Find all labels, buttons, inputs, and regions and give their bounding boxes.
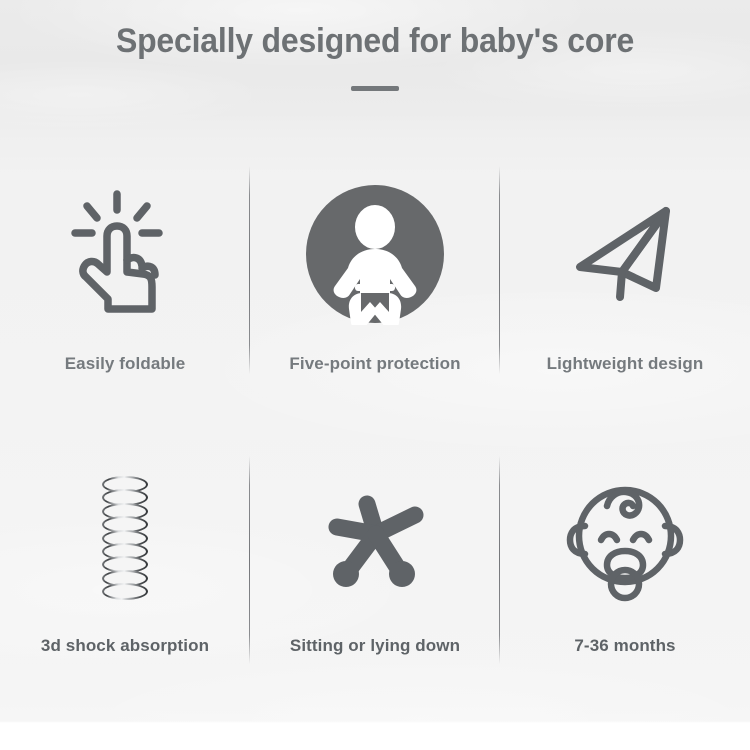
feature-item-five-point-protection[interactable]: Five-point protection xyxy=(250,140,500,430)
feature-label: Lightweight design xyxy=(547,354,704,374)
feature-item-3d-shock-absorption[interactable]: 3d shock absorption xyxy=(0,430,250,720)
baby-harness-circle-icon xyxy=(304,183,446,325)
stroller-icon xyxy=(319,482,431,594)
feature-icon-wrapper xyxy=(557,440,693,636)
product-feature-panel: Specially designed for baby's core xyxy=(0,0,750,750)
feature-icon-wrapper xyxy=(304,154,446,354)
feature-item-sitting-or-lying-down[interactable]: Sitting or lying down xyxy=(250,430,500,720)
feature-grid: Easily foldable xyxy=(0,140,750,720)
tap-hand-icon xyxy=(65,188,185,320)
page-title: Specially designed for baby's core xyxy=(23,18,728,64)
feature-label: Five-point protection xyxy=(289,354,460,374)
feature-icon-wrapper xyxy=(65,154,185,354)
feature-icon-wrapper xyxy=(102,440,148,636)
feature-label: 3d shock absorption xyxy=(41,636,209,656)
title-divider xyxy=(351,86,399,91)
feature-item-easily-foldable[interactable]: Easily foldable xyxy=(0,140,250,430)
feature-icon-wrapper xyxy=(319,440,431,636)
paper-plane-icon xyxy=(566,195,684,313)
coil-spring-icon xyxy=(102,476,148,600)
feature-item-age-range[interactable]: 7-36 months xyxy=(500,430,750,720)
feature-icon-wrapper xyxy=(566,154,684,354)
baby-face-pacifier-icon xyxy=(557,474,693,602)
feature-label: 7-36 months xyxy=(574,636,675,656)
feature-label: Easily foldable xyxy=(65,354,186,374)
feature-label: Sitting or lying down xyxy=(290,636,460,656)
feature-item-lightweight-design[interactable]: Lightweight design xyxy=(500,140,750,430)
header: Specially designed for baby's core xyxy=(0,18,750,91)
